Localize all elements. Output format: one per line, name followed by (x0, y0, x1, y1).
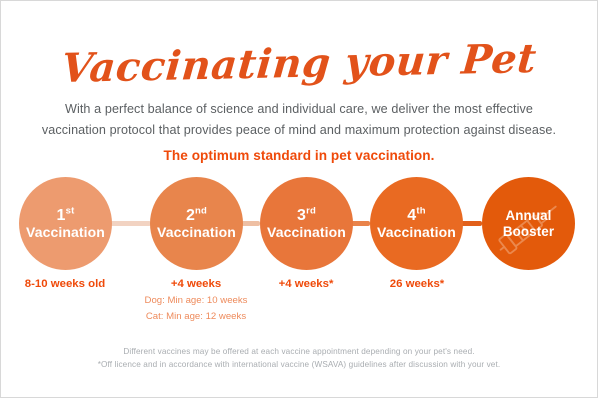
caption-step-2-sub-dog: Dog: Min age: 10 weeks (121, 294, 271, 307)
timeline-step-2[interactable]: 2nd Vaccination (150, 177, 243, 270)
page-title: Vaccinating your Pet (0, 35, 598, 93)
timeline-step-1-label: Vaccination (26, 224, 105, 241)
timeline-step-3-label: Vaccination (267, 224, 346, 241)
intro-line-1: With a perfect balance of science and in… (29, 99, 569, 120)
timeline-step-3-ordinal: 3rd (297, 207, 316, 224)
timeline-step-1[interactable]: 1st Vaccination (19, 177, 112, 270)
timeline-captions: 8-10 weeks old +4 weeks Dog: Min age: 10… (1, 277, 598, 327)
timeline-step-4[interactable]: 4th Vaccination (370, 177, 463, 270)
intro-paragraph: With a perfect balance of science and in… (29, 99, 569, 141)
timeline-step-3[interactable]: 3rd Vaccination (260, 177, 353, 270)
caption-step-4-main: 26 weeks* (342, 277, 492, 291)
subhead: The optimum standard in pet vaccination. (1, 148, 597, 163)
timeline-step-1-ordinal: 1st (57, 207, 75, 224)
timeline-step-5-label-line1: Annual (506, 208, 552, 224)
footnote-line-1: Different vaccines may be offered at eac… (1, 345, 597, 358)
caption-step-1: 8-10 weeks old (0, 277, 140, 291)
timeline-step-4-ordinal: 4th (407, 207, 425, 224)
footnote-line-2: *Off licence and in accordance with inte… (1, 358, 597, 371)
timeline-step-5-label-line2: Booster (503, 224, 554, 240)
timeline-step-2-label: Vaccination (157, 224, 236, 241)
caption-step-2-sub-cat: Cat: Min age: 12 weeks (121, 310, 271, 323)
caption-step-4: 26 weeks* (342, 277, 492, 291)
timeline-step-2-ordinal: 2nd (186, 207, 207, 224)
caption-step-1-main: 8-10 weeks old (0, 277, 140, 291)
footnotes: Different vaccines may be offered at eac… (1, 345, 597, 371)
timeline-step-4-label: Vaccination (377, 224, 456, 241)
timeline-step-5-annual-booster[interactable]: Annual Booster (482, 177, 575, 270)
infographic-page: Vaccinating your Pet With a perfect bala… (0, 0, 598, 398)
connector-1-2 (109, 221, 151, 226)
intro-line-2: vaccination protocol that provides peace… (29, 120, 569, 141)
vaccination-timeline: 1st Vaccination 2nd Vaccination 3rd Vacc… (1, 177, 598, 271)
